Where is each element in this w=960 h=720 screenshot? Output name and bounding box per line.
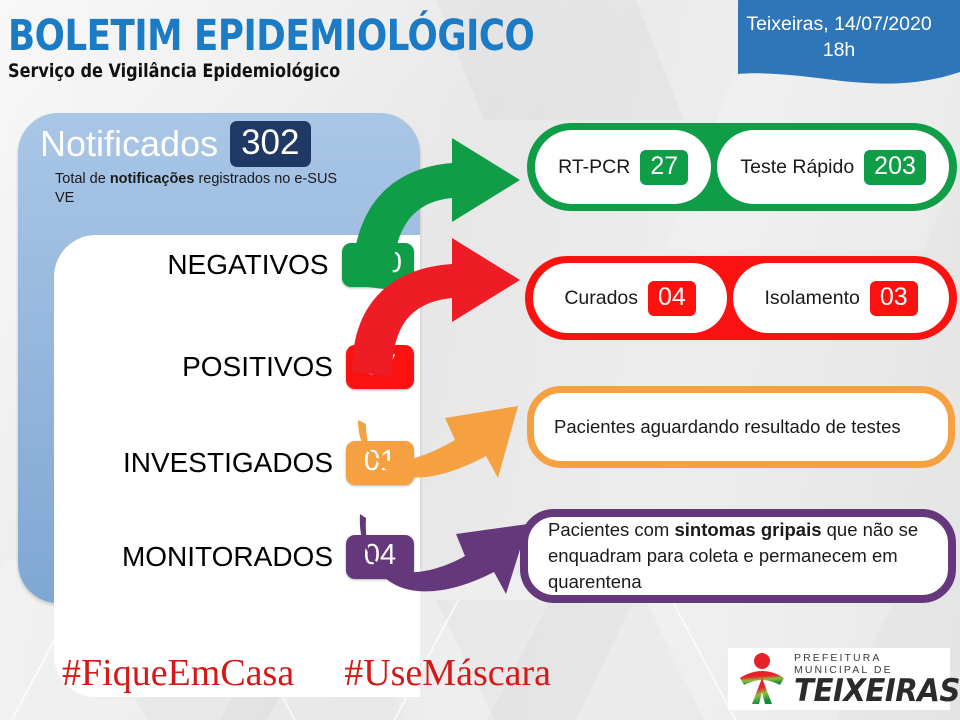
stat-row: NEGATIVOS230 [167,243,414,287]
monitored-badge: 04 [346,535,414,579]
stat-name: POSITIVOS [182,351,333,383]
notified-count-badge: 302 [230,121,310,167]
outcome-label: Curados [564,287,638,310]
test-value: 203 [864,150,926,185]
logo-line-2: TEIXEIRAS [794,676,960,707]
notified-description-bold: notificações [110,171,195,187]
test-pill: Teste Rápido203 [717,130,949,204]
tests-result-box: RT-PCR27Teste Rápido203 [527,123,957,211]
investigated-badge: 01 [346,441,414,485]
city-logo: PREFEITURA MUNICIPAL DE TEIXEIRAS [728,648,950,710]
outcome-label: Isolamento [764,287,859,310]
investigated-note-box: Pacientes aguardando resultado de testes [527,386,955,468]
logo-text: PREFEITURA MUNICIPAL DE TEIXEIRAS [794,652,952,707]
stat-row: MONITORADOS04 [122,535,414,579]
notified-description-pre: Total de [55,171,110,187]
outcome-pill: Isolamento03 [733,263,949,333]
page-subtitle: Serviço de Vigilância Epidemiológico [8,60,546,82]
bulletin-page: BOLETIM EPIDEMIOLÓGICO Serviço de Vigilâ… [0,0,960,720]
header-title-block: BOLETIM EPIDEMIOLÓGICO Serviço de Vigilâ… [8,14,580,82]
monitored-note-bold: sintomas gripais [674,519,821,540]
notified-description: Total de notificações registrados no e-S… [55,170,355,208]
investigated-note-text: Pacientes aguardando resultado de testes [554,414,901,440]
notified-header: Notificados 302 [40,121,410,167]
outcome-pill: Curados04 [533,263,727,333]
monitored-note-pre: Pacientes com [548,519,674,540]
outcome-value: 03 [870,281,918,316]
outcome-value: 04 [648,281,696,316]
stat-name: NEGATIVOS [167,249,328,281]
stat-name: MONITORADOS [122,541,333,573]
notified-label: Notificados [40,124,218,164]
notified-panel: Notificados 302 Total de notificações re… [18,113,420,603]
negative-badge: 230 [342,243,414,287]
date-banner-text: Teixeiras, 14/07/2020 18h [718,11,960,63]
positive-outcome-box: Curados04Isolamento03 [525,256,957,340]
hashtag: #FiqueEmCasa [62,651,294,695]
test-label: RT-PCR [558,156,630,179]
stat-row: INVESTIGADOS01 [123,441,414,485]
positive-badge: 07 [346,345,414,389]
stat-row: POSITIVOS07 [182,345,414,389]
test-label: Teste Rápido [740,156,854,179]
date-banner: Teixeiras, 14/07/2020 18h [718,0,960,86]
stats-list: NEGATIVOS230POSITIVOS07INVESTIGADOS01MON… [54,235,420,697]
hashtag: #UseMáscara [344,651,551,695]
teixeiras-figure-logo [734,652,790,706]
monitored-note-text: Pacientes com sintomas gripais que não s… [548,517,928,595]
date-line-1: Teixeiras, 14/07/2020 [718,11,960,37]
test-value: 27 [640,150,688,185]
monitored-note-box: Pacientes com sintomas gripais que não s… [520,509,956,603]
hashtags: #FiqueEmCasa#UseMáscara [62,651,551,695]
page-title: BOLETIM EPIDEMIOLÓGICO [8,14,534,58]
test-pill: RT-PCR27 [535,130,711,204]
date-line-2: 18h [718,37,960,63]
stat-name: INVESTIGADOS [123,447,333,479]
